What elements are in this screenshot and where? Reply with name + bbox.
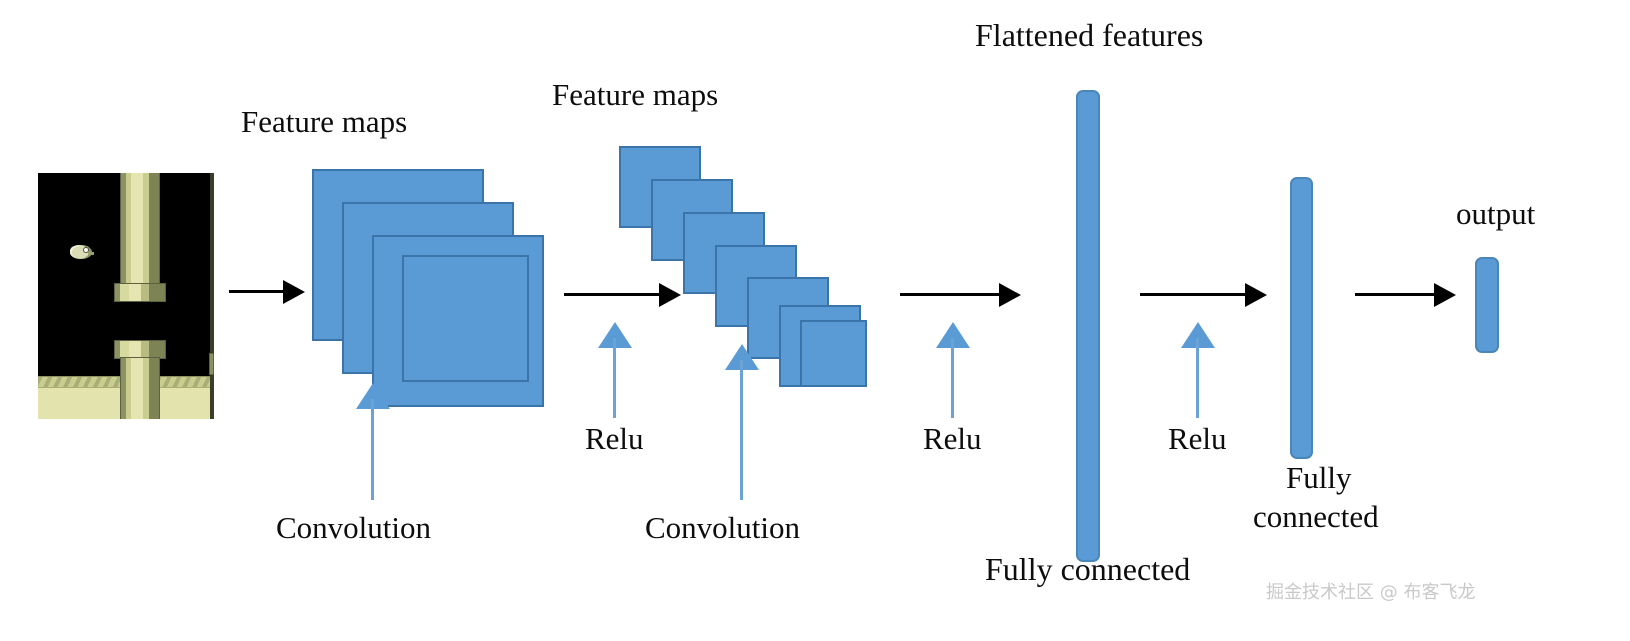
label-relu-3: Relu	[1168, 422, 1227, 457]
arrow-fc-to-output	[1355, 283, 1459, 307]
label-output: output	[1456, 197, 1535, 232]
arrow-relu-3	[1181, 322, 1215, 418]
label-fully-connected-2-line2: connected	[1253, 500, 1379, 535]
arrow-conv2-to-flatten	[900, 283, 1024, 307]
frame-right-edge	[210, 173, 214, 419]
label-convolution-2: Convolution	[645, 511, 800, 546]
arrow-relu-2	[936, 322, 970, 418]
pipe-top-body	[120, 173, 160, 285]
arrow-conv1-to-conv2	[564, 283, 684, 307]
arrow-flatten-to-fc	[1140, 283, 1270, 307]
arrow-convolution-2	[725, 344, 759, 500]
label-feature-maps-1: Feature maps	[241, 105, 407, 140]
output-bar	[1475, 257, 1499, 353]
input-game-frame	[38, 173, 214, 419]
label-feature-maps-2: Feature maps	[552, 78, 718, 113]
label-flattened-features: Flattened features	[975, 18, 1203, 54]
label-convolution-1: Convolution	[276, 511, 431, 546]
arrow-relu-1	[598, 322, 632, 418]
arrow-convolution-1	[356, 383, 390, 500]
feature-map-1-4	[402, 255, 529, 382]
pipe-bottom-over-ground	[120, 357, 160, 419]
watermark: 掘金技术社区 @ 布客飞龙	[1266, 578, 1475, 604]
frame-right-sliver	[209, 353, 214, 375]
label-fully-connected-1: Fully connected	[985, 552, 1190, 588]
label-relu-1: Relu	[585, 422, 644, 457]
bird-beak-icon	[88, 252, 94, 255]
label-fully-connected-2-line1: Fully	[1286, 461, 1351, 496]
bird-sprite	[70, 245, 92, 259]
feature-map-2-7	[800, 320, 867, 387]
diagram-canvas: Feature maps Convolution Relu Feature ma…	[0, 0, 1630, 641]
fully-connected-bar	[1290, 177, 1313, 459]
flattened-features-bar	[1076, 90, 1100, 562]
arrow-input-to-conv1	[229, 280, 305, 304]
label-relu-2: Relu	[923, 422, 982, 457]
pipe-top-cap	[114, 283, 166, 302]
